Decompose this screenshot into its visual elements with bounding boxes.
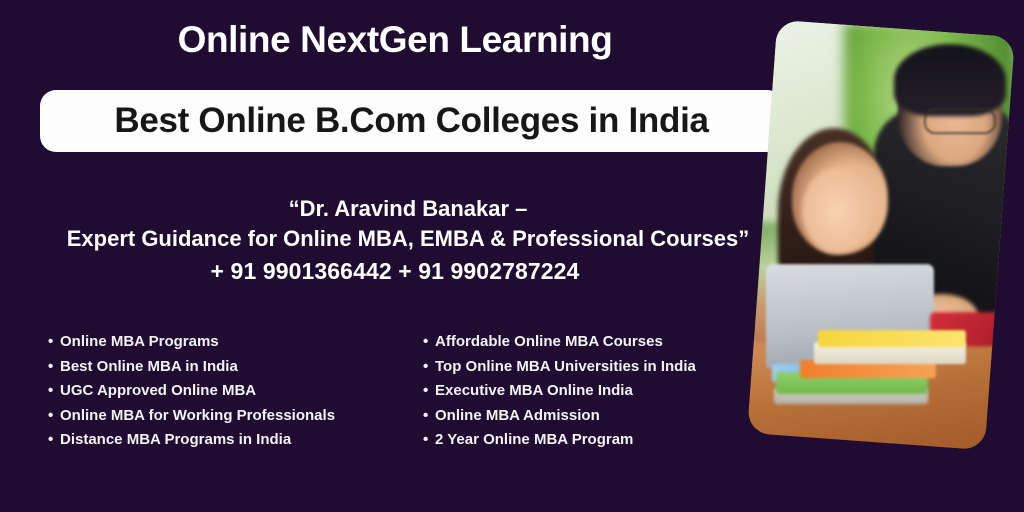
phone-numbers: + 91 9901366442 + 91 9902787224 bbox=[0, 258, 790, 285]
list-item-label: Affordable Online MBA Courses bbox=[435, 330, 663, 355]
bullet-marker-icon: • bbox=[423, 330, 435, 355]
title-pill-text: Best Online B.Com Colleges in India bbox=[114, 101, 708, 141]
list-item: • Online MBA Admission bbox=[423, 404, 783, 429]
bullet-marker-icon: • bbox=[48, 330, 60, 355]
title-pill: Best Online B.Com Colleges in India bbox=[40, 90, 783, 152]
bullet-marker-icon: • bbox=[423, 428, 435, 453]
list-item: • Distance MBA Programs in India bbox=[48, 428, 448, 453]
list-item: • Affordable Online MBA Courses bbox=[423, 330, 783, 355]
list-item-label: Online MBA Admission bbox=[435, 404, 600, 429]
list-item: • Executive MBA Online India bbox=[423, 379, 783, 404]
bullet-marker-icon: • bbox=[48, 355, 60, 380]
list-item-label: Best Online MBA in India bbox=[60, 355, 238, 380]
photo-student-male-hair bbox=[894, 44, 1006, 116]
quote-line-1: “Dr. Aravind Banakar – bbox=[0, 194, 816, 224]
bullet-marker-icon: • bbox=[423, 379, 435, 404]
list-item-label: Top Online MBA Universities in India bbox=[435, 355, 696, 380]
photo-student-female-face bbox=[802, 168, 872, 254]
list-item-label: Executive MBA Online India bbox=[435, 379, 633, 404]
bullet-marker-icon: • bbox=[48, 404, 60, 429]
quote-line-2: Expert Guidance for Online MBA, EMBA & P… bbox=[0, 224, 816, 254]
list-item-label: 2 Year Online MBA Program bbox=[435, 428, 633, 453]
list-item-label: UGC Approved Online MBA bbox=[60, 379, 256, 404]
bullet-list-left: • Online MBA Programs • Best Online MBA … bbox=[48, 330, 448, 453]
bullet-list-right: • Affordable Online MBA Courses • Top On… bbox=[423, 330, 783, 453]
bullet-marker-icon: • bbox=[423, 404, 435, 429]
bullet-marker-icon: • bbox=[423, 355, 435, 380]
list-item: • 2 Year Online MBA Program bbox=[423, 428, 783, 453]
bullet-marker-icon: • bbox=[48, 428, 60, 453]
list-item: • UGC Approved Online MBA bbox=[48, 379, 448, 404]
bullet-marker-icon: • bbox=[48, 379, 60, 404]
list-item: • Online MBA Programs bbox=[48, 330, 448, 355]
quote-block: “Dr. Aravind Banakar – Expert Guidance f… bbox=[0, 194, 816, 254]
list-item: • Best Online MBA in India bbox=[48, 355, 448, 380]
list-item-label: Distance MBA Programs in India bbox=[60, 428, 291, 453]
promo-banner: Online NextGen Learning Best Online B.Co… bbox=[0, 0, 1024, 512]
list-item: • Top Online MBA Universities in India bbox=[423, 355, 783, 380]
students-photo-image bbox=[748, 20, 1015, 450]
photo-eyeglasses bbox=[924, 108, 996, 134]
banner-headline: Online NextGen Learning bbox=[0, 18, 790, 62]
list-item-label: Online MBA Programs bbox=[60, 330, 219, 355]
list-item-label: Online MBA for Working Professionals bbox=[60, 404, 335, 429]
list-item: • Online MBA for Working Professionals bbox=[48, 404, 448, 429]
photo-yellow-book bbox=[818, 330, 966, 347]
students-photo bbox=[747, 20, 1015, 450]
